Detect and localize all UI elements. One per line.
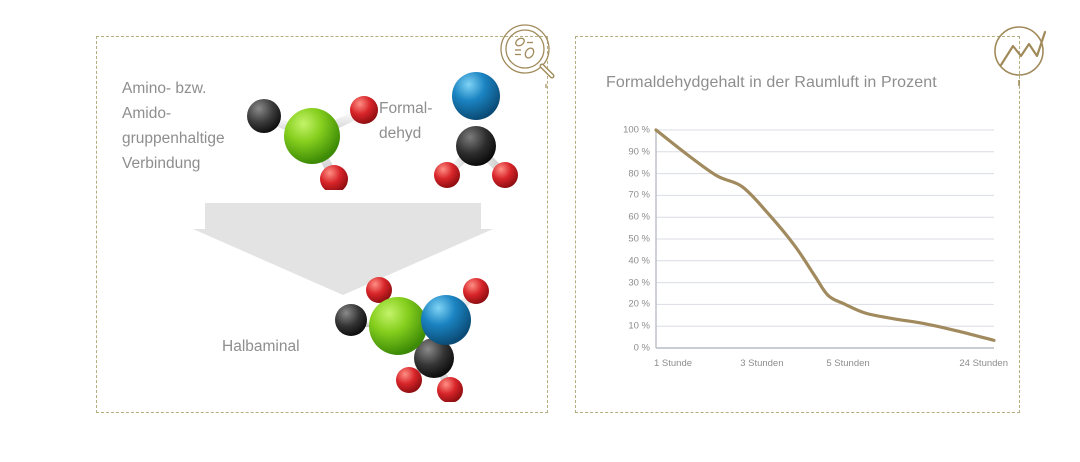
chart-plot (600, 120, 1000, 380)
y-axis-tick-label: 20 % (606, 299, 650, 310)
y-axis-tick-label: 10 % (606, 321, 650, 332)
formaldehyde-molecule (432, 68, 518, 190)
chart-title: Formaldehydgehalt in der Raumluft in Pro… (606, 74, 937, 92)
y-axis-tick-label: 100 % (606, 125, 650, 136)
x-axis-tick-label: 1 Stunde (654, 358, 692, 369)
y-axis-tick-label: 60 % (606, 212, 650, 223)
y-axis-tick-label: 40 % (606, 255, 650, 266)
x-axis-tick-label: 3 Stunden (740, 358, 783, 369)
x-axis-tick-label: 24 Stunden (959, 358, 1008, 369)
amine-compound-molecule (238, 78, 383, 190)
y-axis-tick-label: 80 % (606, 168, 650, 179)
trend-chart-circle-icon (988, 22, 1054, 88)
y-axis-tick-label: 0 % (606, 343, 650, 354)
y-axis-tick-label: 50 % (606, 234, 650, 245)
line-chart: 100 %90 %80 %70 %60 %50 %40 %30 %20 %10 … (600, 120, 1000, 380)
product-label: Halbaminal (222, 338, 300, 356)
chart-series-line (656, 130, 994, 340)
x-axis-tick-label: 5 Stunden (826, 358, 869, 369)
halbaminal-molecule (322, 268, 506, 402)
y-axis-tick-label: 90 % (606, 146, 650, 157)
y-axis-tick-label: 30 % (606, 277, 650, 288)
y-axis-tick-label: 70 % (606, 190, 650, 201)
